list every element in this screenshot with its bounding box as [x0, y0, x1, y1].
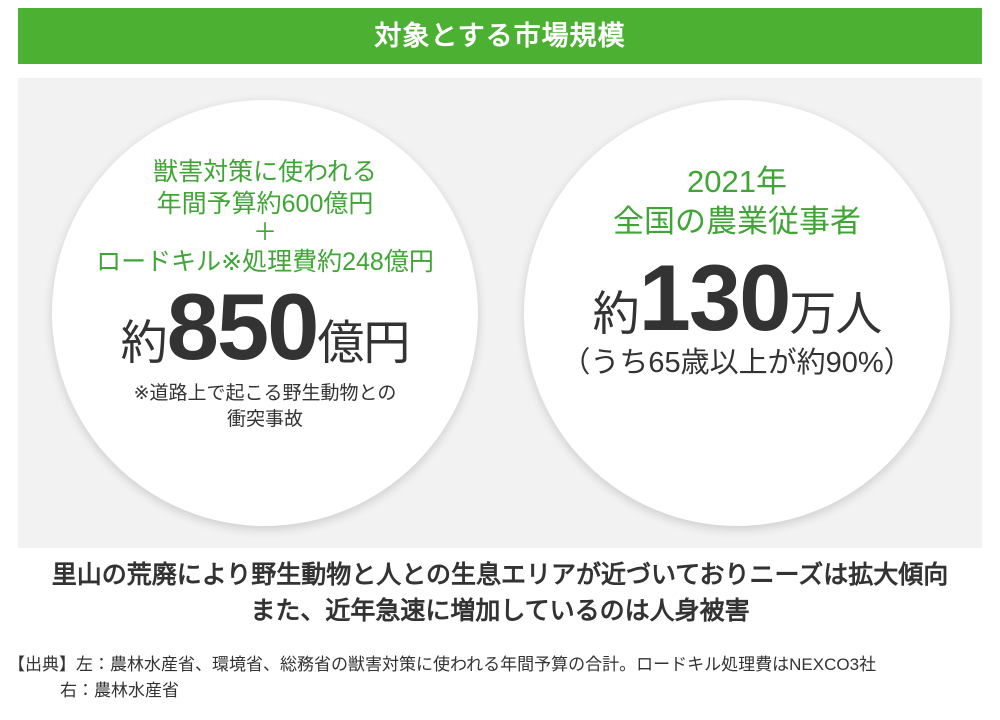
source-line-2: 右：農林水産省: [8, 678, 992, 704]
stat-circle-farm-workers: 2021年 全国の農業従事者 約 130 万人 （うち65歳以上が約90%）: [524, 100, 950, 526]
figure-prefix: 約: [593, 275, 639, 344]
summary-line: また、近年急速に増加しているのは人身被害: [0, 594, 1000, 630]
figure-parenthetical: （うち65歳以上が約90%）: [561, 346, 912, 381]
figure-note-line: 衝突事故: [134, 407, 397, 433]
header-banner: 対象とする市場規模: [18, 8, 982, 64]
figure-note-line: ※道路上で起こる野生動物との: [134, 381, 397, 407]
circle-green-line: 獣害対策に使われる: [153, 156, 377, 188]
circle-green-line: 年間予算約600億円: [157, 188, 374, 220]
figure-note: ※道路上で起こる野生動物との 衝突事故: [134, 381, 397, 432]
source-line-1: 【出典】左：農林水産省、環境省、総務省の獣害対策に使われる年間予算の合計。ロード…: [8, 652, 992, 678]
figure-suffix: 億円: [317, 304, 409, 373]
figure-prefix: 約: [121, 304, 167, 373]
page-title: 対象とする市場規模: [374, 23, 625, 50]
slide-root: 対象とする市場規模 獣害対策に使われる 年間予算約600億円 ＋ ロードキル※処…: [0, 0, 1000, 720]
circle-green-line: 全国の農業従事者: [613, 202, 861, 242]
summary-block: 里山の荒廃により野生動物と人との生息エリアが近づいておりニーズは拡大傾向 また、…: [0, 558, 1000, 629]
figure-suffix: 万人: [789, 275, 881, 344]
figure-number: 850: [167, 282, 318, 371]
plus-sign: ＋: [253, 220, 277, 245]
headline-figure: 約 850 億円: [121, 282, 410, 373]
source-footnote: 【出典】左：農林水産省、環境省、総務省の獣害対策に使われる年間予算の合計。ロード…: [8, 652, 992, 705]
headline-figure: 約 130 万人: [593, 253, 882, 344]
stat-circle-market-budget: 獣害対策に使われる 年間予算約600億円 ＋ ロードキル※処理費約248億円 約…: [52, 100, 478, 526]
figure-number: 130: [639, 253, 790, 342]
circle-green-line: 2021年: [687, 162, 787, 202]
summary-line: 里山の荒廃により野生動物と人との生息エリアが近づいておりニーズは拡大傾向: [0, 558, 1000, 594]
